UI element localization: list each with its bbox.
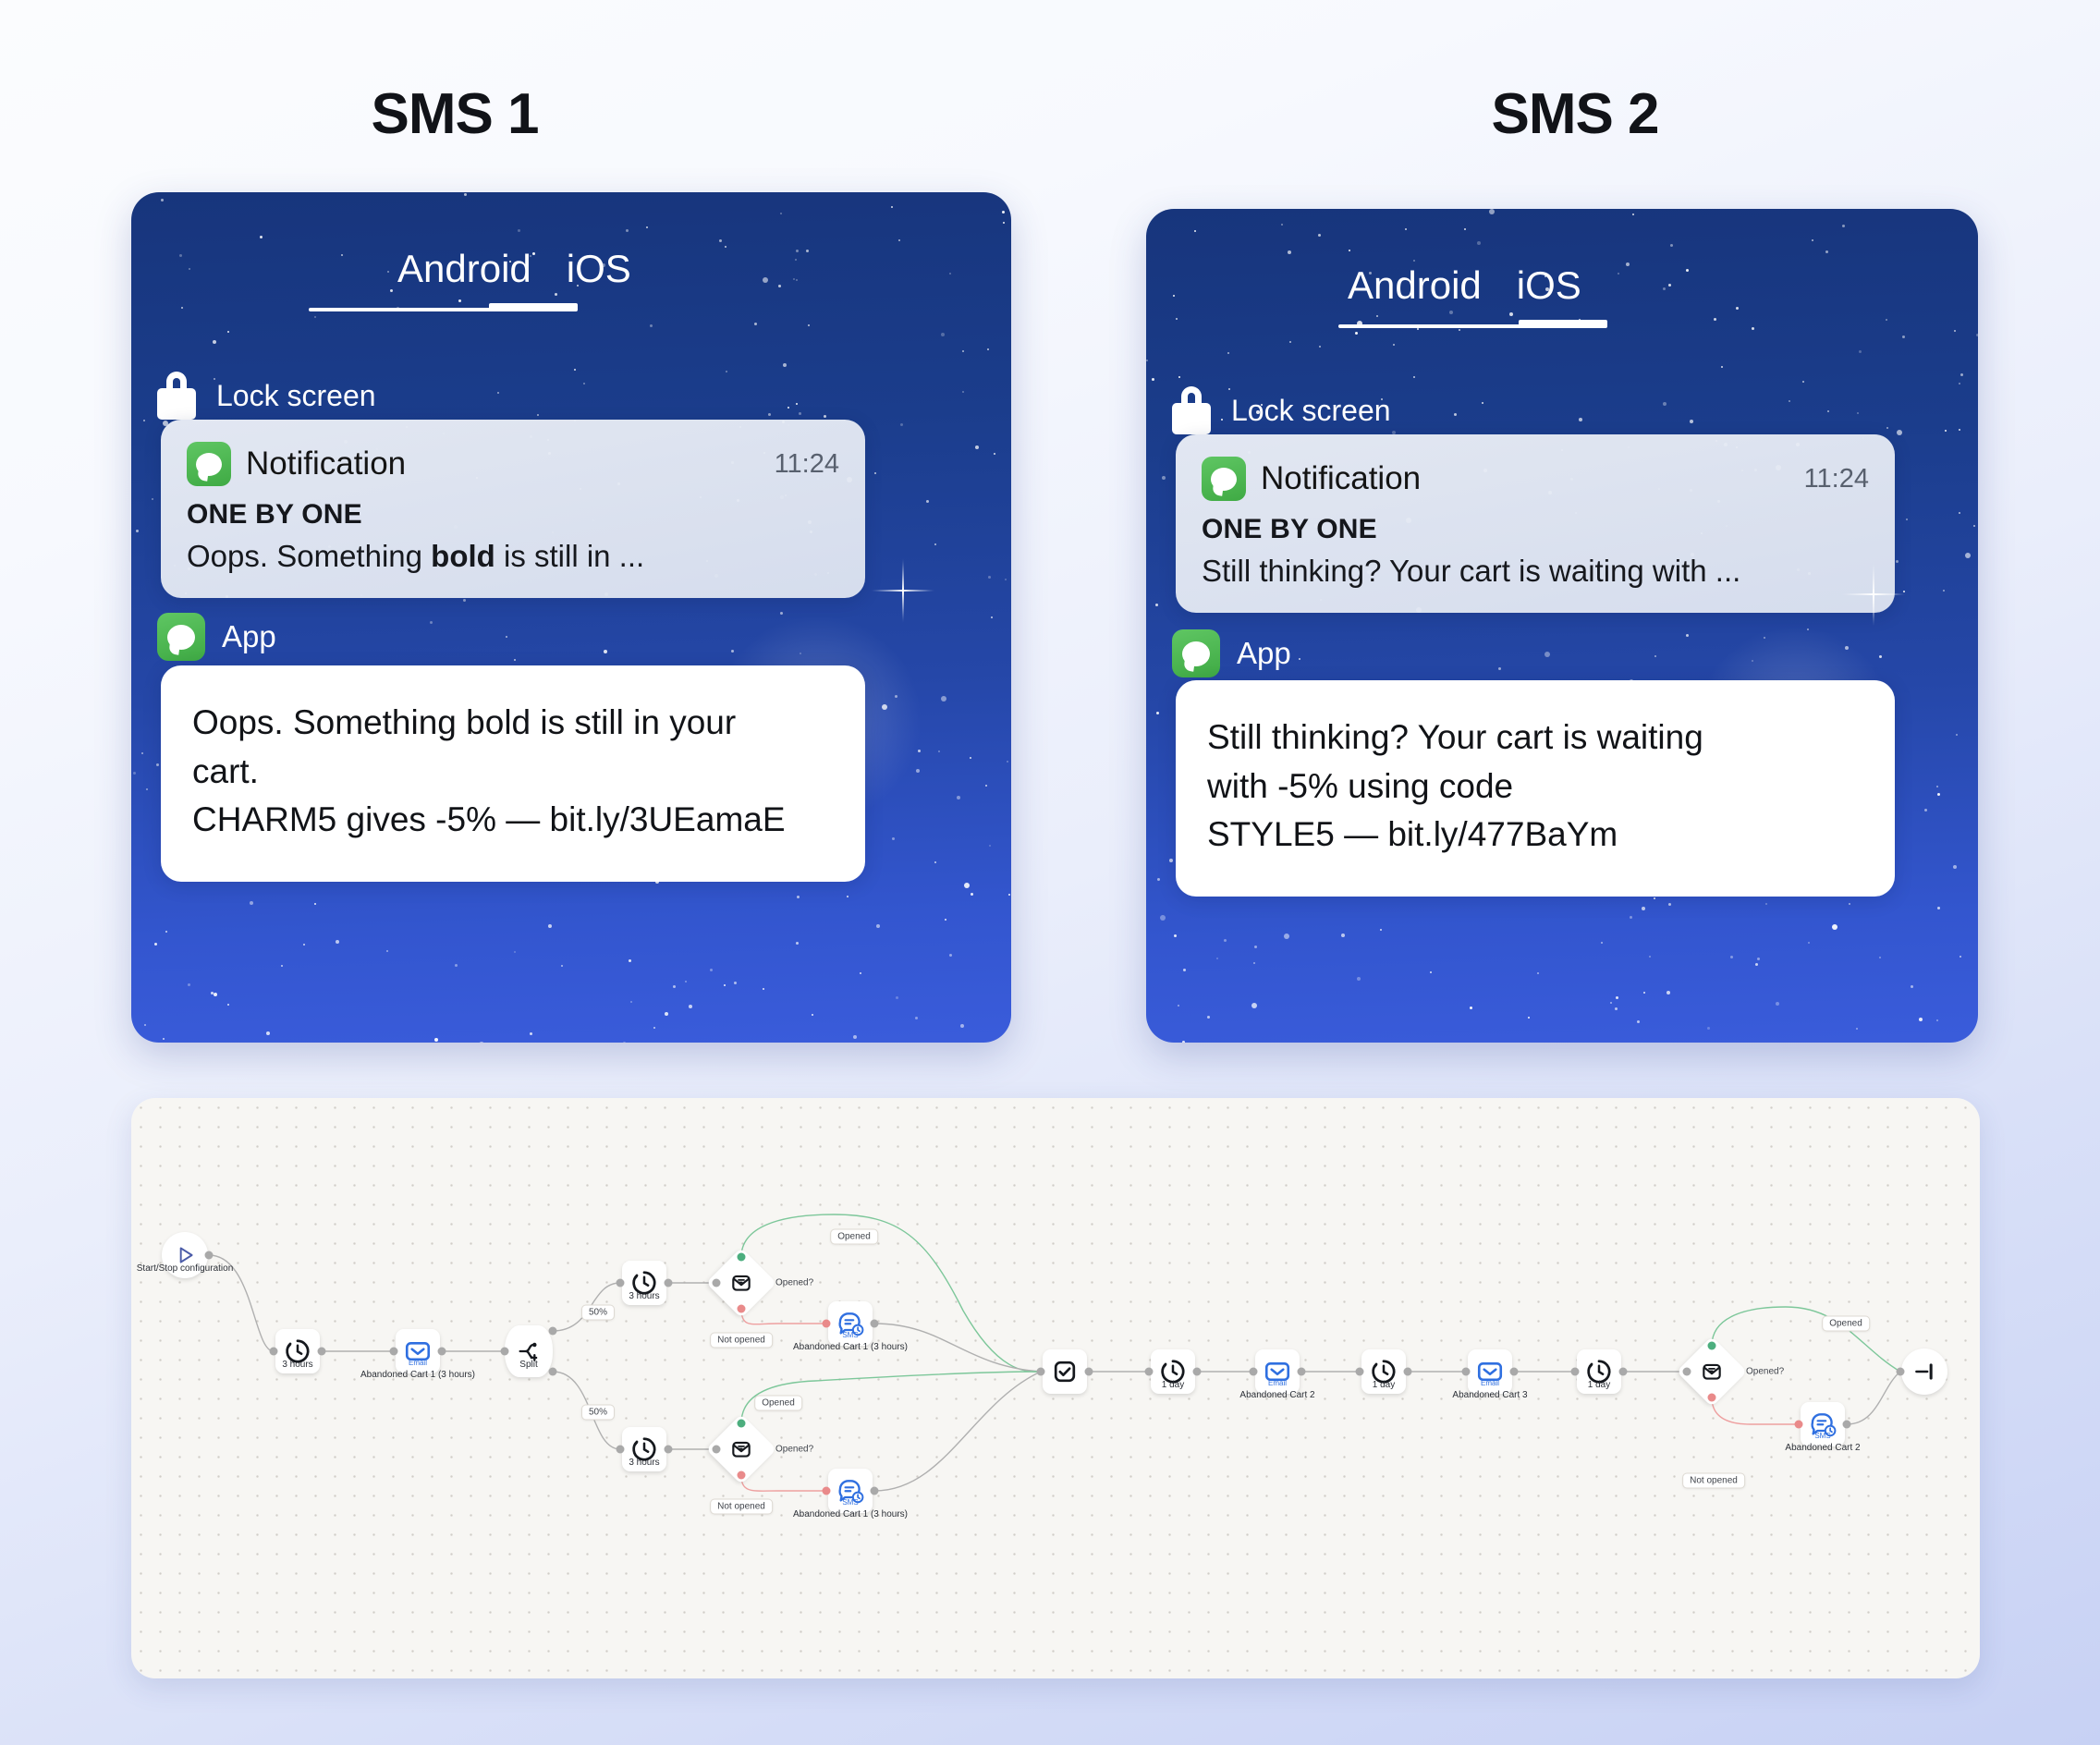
flow-edge (1712, 1307, 1900, 1372)
connector-port (738, 1253, 746, 1262)
connector-port (270, 1348, 278, 1356)
message-line: with -5% using code (1207, 763, 1863, 811)
notification-preview-suffix-sms1: is still in ... (495, 539, 644, 573)
notification-header-sms1: Notification 11:24 (187, 442, 839, 486)
flow-edge (874, 1372, 1041, 1491)
connector-port (617, 1279, 625, 1287)
flow-node-wait1[interactable]: 3 hours (275, 1329, 320, 1373)
node-caption-text: 3 hours (282, 1360, 312, 1370)
node-caption: 1 day (1588, 1379, 1610, 1392)
lock-icon (157, 372, 196, 420)
exit-icon[interactable] (1901, 1348, 1947, 1395)
app-label-sms2: App (1237, 636, 1291, 671)
flow-node-condA[interactable] (716, 1258, 766, 1308)
flow-node-exit[interactable] (1901, 1348, 1947, 1395)
connector-port (665, 1446, 673, 1454)
node-kind-label: SMS (793, 1331, 908, 1341)
tab-android-sms2[interactable]: Android (1348, 266, 1482, 311)
node-kind-label: Email (360, 1359, 475, 1369)
edge-label-split-top: 50% (581, 1305, 615, 1321)
flow-edge (741, 1475, 826, 1491)
connector-port (713, 1279, 721, 1287)
node-caption-text: Abandoned Cart 2 (1239, 1390, 1314, 1400)
condition-label-condA: Opened? (775, 1278, 813, 1288)
message-line: Still thinking? Your cart is waiting (1207, 714, 1863, 763)
flow-node-email2[interactable]: EmailAbandoned Cart 2 (1255, 1349, 1300, 1394)
notification-sender-sms1: ONE BY ONE (187, 499, 839, 531)
messages-app-icon (187, 442, 231, 486)
node-caption-text: Start/Stop configuration (137, 1263, 234, 1274)
connector-port (1510, 1368, 1519, 1376)
connector-port (1037, 1368, 1045, 1376)
connector-port (318, 1348, 326, 1356)
connector-port (617, 1446, 625, 1454)
flow-node-email3[interactable]: EmailAbandoned Cart 3 (1468, 1349, 1512, 1394)
connector-port (1145, 1368, 1154, 1376)
node-kind-label: SMS (1785, 1432, 1860, 1442)
message-line: STYLE5 — bit.ly/477BaYm (1207, 811, 1863, 860)
flow-node-wait2[interactable]: 1 day (1151, 1349, 1195, 1394)
connector-port (738, 1420, 746, 1428)
connector-port (1193, 1368, 1202, 1376)
connector-port (871, 1487, 879, 1495)
node-caption: EmailAbandoned Cart 1 (3 hours) (360, 1359, 475, 1381)
node-caption-text: Abandoned Cart 1 (3 hours) (793, 1342, 908, 1352)
condition-label-condC: Opened? (1746, 1367, 1784, 1377)
flow-node-split[interactable]: Split (505, 1325, 553, 1377)
edge-label-notopenedC: Not opened (1682, 1473, 1745, 1489)
flow-edge (1712, 1397, 1799, 1424)
connector-port (1619, 1368, 1628, 1376)
lock-screen-label-sms1: Lock screen (216, 379, 376, 413)
notification-app-title-sms2: Notification (1261, 460, 1804, 497)
flow-node-wait3[interactable]: 1 day (1361, 1349, 1406, 1394)
connector-port (1462, 1368, 1471, 1376)
phone-preview-sms1: Android iOS Lock screen Notification 11:… (131, 192, 1011, 1043)
flow-node-condB[interactable] (716, 1424, 766, 1474)
connector-port (549, 1368, 557, 1376)
connector-port (738, 1305, 746, 1313)
message-bubble-sms1: Oops. Something bold is still in your ca… (161, 665, 865, 882)
notification-time-sms1: 11:24 (775, 449, 839, 480)
edge-label-notopenedB: Not opened (710, 1499, 773, 1515)
flow-edge (1847, 1372, 1900, 1424)
connector-port (1683, 1368, 1691, 1376)
connector-port (1571, 1368, 1580, 1376)
node-caption: 3 hours (629, 1457, 659, 1470)
connector-port (1795, 1421, 1803, 1429)
node-caption: EmailAbandoned Cart 3 (1452, 1379, 1527, 1401)
connector-port (1404, 1368, 1412, 1376)
connector-port (1843, 1421, 1851, 1429)
node-kind-label: SMS (793, 1498, 908, 1508)
message-line: cart. (192, 748, 834, 797)
node-caption: Split (519, 1359, 537, 1372)
platform-tabs-sms2[interactable]: Android iOS (1348, 266, 1581, 311)
phone-preview-sms2: Android iOS Lock screen Notification 11:… (1146, 209, 1978, 1043)
notification-preview-sms1: Oops. Something bold is still in ... (187, 539, 839, 574)
message-bubble-sms2: Still thinking? Your cart is waiting wit… (1176, 680, 1895, 897)
notification-bubble-sms2[interactable]: Notification 11:24 ONE BY ONE Still thin… (1176, 434, 1895, 613)
flow-node-waitA[interactable]: 3 hours (622, 1261, 666, 1305)
platform-tabs-sms1[interactable]: Android iOS (397, 250, 631, 294)
node-caption: 1 day (1162, 1379, 1184, 1392)
node-caption: SMSAbandoned Cart 1 (3 hours) (793, 1331, 908, 1353)
connector-port (1085, 1368, 1093, 1376)
flow-edge (741, 1309, 826, 1324)
connector-port (501, 1348, 509, 1356)
tab-android-sms1[interactable]: Android (397, 250, 531, 294)
node-caption-text: Abandoned Cart 3 (1452, 1390, 1527, 1400)
node-caption: 3 hours (282, 1359, 312, 1372)
node-caption-text: 3 hours (629, 1291, 659, 1301)
condition-label-condB: Opened? (775, 1445, 813, 1455)
notification-sender-sms2: ONE BY ONE (1202, 514, 1869, 545)
connector-port (205, 1251, 214, 1260)
phone-previews: Android iOS Lock screen Notification 11:… (0, 192, 2100, 1043)
connector-port (1897, 1368, 1905, 1376)
messages-app-icon (1202, 457, 1246, 501)
notification-time-sms2: 11:24 (1804, 464, 1869, 494)
lock-icon (1172, 386, 1211, 434)
notification-preview-prefix-sms2: Still thinking? Your cart is waiting wit… (1202, 554, 1740, 588)
connector-port (549, 1327, 557, 1336)
automation-flow-canvas[interactable]: Start/Stop configuration3 hoursEmailAban… (131, 1098, 1980, 1678)
edge-label-openedC: Opened (1822, 1316, 1870, 1332)
card-titles-row: SMS 1 SMS 2 (0, 81, 2100, 147)
connector-port (713, 1446, 721, 1454)
lock-screen-row-sms1: Lock screen (157, 372, 376, 420)
page-title-sms1: SMS 1 (0, 81, 1050, 147)
tab-underline-active-sms2 (1519, 320, 1607, 328)
edge-label-openedB: Opened (754, 1396, 802, 1411)
node-caption-text: 1 day (1588, 1380, 1610, 1390)
tab-ios-sms2[interactable]: iOS (1517, 266, 1581, 311)
notification-preview-sms2: Still thinking? Your cart is waiting wit… (1202, 554, 1869, 589)
connector-port (871, 1320, 879, 1328)
notification-bubble-sms1[interactable]: Notification 11:24 ONE BY ONE Oops. Some… (161, 420, 865, 598)
merge-icon[interactable] (1043, 1349, 1087, 1394)
flow-node-condC[interactable] (1687, 1347, 1737, 1397)
node-caption: 3 hours (629, 1290, 659, 1303)
flow-node-email1[interactable]: EmailAbandoned Cart 1 (3 hours) (396, 1329, 440, 1373)
node-caption: SMSAbandoned Cart 2 (1785, 1432, 1860, 1454)
connector-port (1708, 1394, 1716, 1402)
connector-port (823, 1487, 831, 1495)
app-label-sms1: App (222, 619, 276, 654)
flow-node-smsA[interactable]: SMSAbandoned Cart 1 (3 hours) (828, 1301, 873, 1346)
node-caption-text: Abandoned Cart 2 (1785, 1443, 1860, 1453)
title-cell-sms2: SMS 2 (1050, 81, 2100, 147)
edge-label-openedA: Opened (830, 1229, 878, 1245)
connector-port (390, 1348, 398, 1356)
notification-app-title-sms1: Notification (246, 445, 775, 482)
node-kind-label: Email (1452, 1379, 1527, 1389)
starfield-background (1146, 209, 1978, 1043)
tab-underline-active-sms1 (489, 303, 578, 311)
flow-node-wait4[interactable]: 1 day (1577, 1349, 1621, 1394)
flow-node-start[interactable]: Start/Stop configuration (162, 1232, 208, 1278)
node-caption-text: Split (519, 1360, 537, 1370)
notification-preview-prefix-sms1: Oops. Something (187, 539, 431, 573)
edge-label-notopenedA: Not opened (710, 1333, 773, 1348)
app-row-sms2: App (1172, 629, 1291, 677)
messages-app-icon (157, 613, 205, 661)
connector-port (665, 1279, 673, 1287)
connector-port (1298, 1368, 1306, 1376)
node-caption-text: 3 hours (629, 1458, 659, 1468)
node-caption: Start/Stop configuration (137, 1263, 234, 1275)
connector-port (1708, 1342, 1716, 1350)
flow-node-waitB[interactable]: 3 hours (622, 1427, 666, 1471)
node-caption-text: Abandoned Cart 1 (3 hours) (793, 1509, 908, 1519)
connector-port (438, 1348, 446, 1356)
tab-ios-sms1[interactable]: iOS (567, 250, 631, 294)
title-cell-sms1: SMS 1 (0, 81, 1050, 147)
flow-node-smsC[interactable]: SMSAbandoned Cart 2 (1801, 1402, 1845, 1446)
node-caption-text: 1 day (1162, 1380, 1184, 1390)
edge-label-split-bot: 50% (581, 1405, 615, 1421)
node-caption: EmailAbandoned Cart 2 (1239, 1379, 1314, 1401)
flow-node-smsB[interactable]: SMSAbandoned Cart 1 (3 hours) (828, 1469, 873, 1513)
connector-port (1250, 1368, 1258, 1376)
connector-port (1356, 1368, 1364, 1376)
sparkle-icon (871, 558, 935, 623)
connector-port (823, 1320, 831, 1328)
node-caption-text: 1 day (1373, 1380, 1395, 1390)
node-kind-label: Email (1239, 1379, 1314, 1389)
notification-preview-bold-sms1: bold (431, 539, 495, 573)
messages-app-icon (1172, 629, 1220, 677)
node-caption: 1 day (1373, 1379, 1395, 1392)
message-line: CHARM5 gives -5% — bit.ly/3UEamaE (192, 796, 834, 845)
node-caption-text: Abandoned Cart 1 (3 hours) (360, 1370, 475, 1380)
flow-node-merge[interactable] (1043, 1349, 1087, 1394)
notification-header-sms2: Notification 11:24 (1202, 457, 1869, 501)
connector-port (738, 1471, 746, 1480)
node-caption: SMSAbandoned Cart 1 (3 hours) (793, 1498, 908, 1520)
message-line: Oops. Something bold is still in your (192, 699, 834, 748)
lock-screen-label-sms2: Lock screen (1231, 394, 1391, 428)
app-row-sms1: App (157, 613, 276, 661)
page-title-sms2: SMS 2 (1050, 81, 2100, 147)
lock-screen-row-sms2: Lock screen (1172, 386, 1391, 434)
